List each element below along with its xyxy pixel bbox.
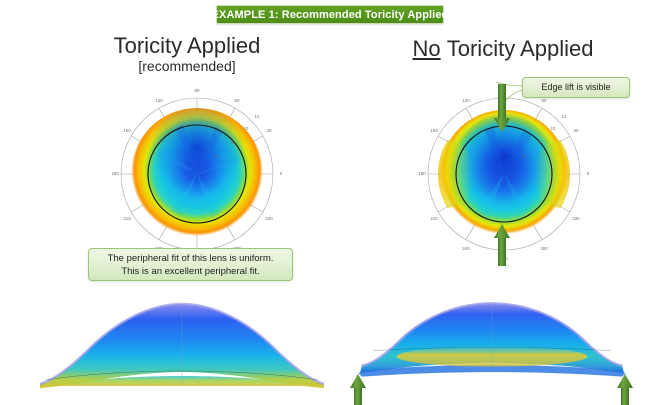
cross-section-toricity-applied <box>32 288 332 398</box>
polar-plot-no-toricity: 90 120 150 180 210 240 270 300 330 0 30 … <box>404 78 604 278</box>
cross-section-no-toricity <box>342 285 642 395</box>
example-banner-label: EXAMPLE 1: Recommended Toricity Applied <box>212 9 449 21</box>
svg-text:90: 90 <box>502 88 507 93</box>
svg-text:60: 60 <box>542 98 547 103</box>
svg-text:10: 10 <box>551 126 556 131</box>
svg-text:12: 12 <box>562 114 567 119</box>
svg-text:60: 60 <box>235 98 240 103</box>
svg-text:12: 12 <box>255 114 260 119</box>
svg-text:30: 30 <box>574 128 579 133</box>
callout-uniform-line-1: The peripheral fit of this lens is unifo… <box>108 252 274 265</box>
callout-edge-lift: Edge lift is visible <box>522 77 630 98</box>
right-panel-title-rest: Toricity Applied <box>447 36 594 61</box>
left-panel-title: Toricity Applied <box>62 34 312 58</box>
svg-text:210: 210 <box>430 216 438 221</box>
svg-text:90: 90 <box>195 88 200 93</box>
svg-text:180: 180 <box>111 171 119 176</box>
clearance-map-right <box>422 110 586 238</box>
right-panel-title: No Toricity Applied <box>375 37 631 61</box>
svg-text:300: 300 <box>540 246 548 251</box>
left-panel-heading: Toricity Applied [recommended] <box>62 34 312 75</box>
svg-text:240: 240 <box>462 246 470 251</box>
left-panel-subtitle: [recommended] <box>62 58 312 75</box>
callout-uniform-fit: The peripheral fit of this lens is unifo… <box>88 248 293 281</box>
svg-text:10: 10 <box>244 126 249 131</box>
lens-profile-right <box>358 303 626 376</box>
lens-profile-left <box>40 304 324 388</box>
svg-text:210: 210 <box>123 216 131 221</box>
svg-text:330: 330 <box>265 216 273 221</box>
svg-text:120: 120 <box>155 98 163 103</box>
svg-text:0: 0 <box>280 171 283 176</box>
example-banner: EXAMPLE 1: Recommended Toricity Applied <box>216 5 444 24</box>
svg-text:30: 30 <box>267 128 272 133</box>
svg-text:270: 270 <box>500 256 508 261</box>
right-panel-heading: No Toricity Applied <box>375 37 631 61</box>
svg-text:0: 0 <box>587 171 590 176</box>
svg-text:330: 330 <box>572 216 580 221</box>
callout-edge-lift-line-1: Edge lift is visible <box>541 81 610 94</box>
svg-text:120: 120 <box>462 98 470 103</box>
svg-text:150: 150 <box>430 128 438 133</box>
svg-text:180: 180 <box>418 171 426 176</box>
svg-text:150: 150 <box>123 128 131 133</box>
callout-uniform-line-2: This is an excellent peripheral fit. <box>121 265 259 278</box>
right-panel-title-emphasis: No <box>413 36 441 61</box>
